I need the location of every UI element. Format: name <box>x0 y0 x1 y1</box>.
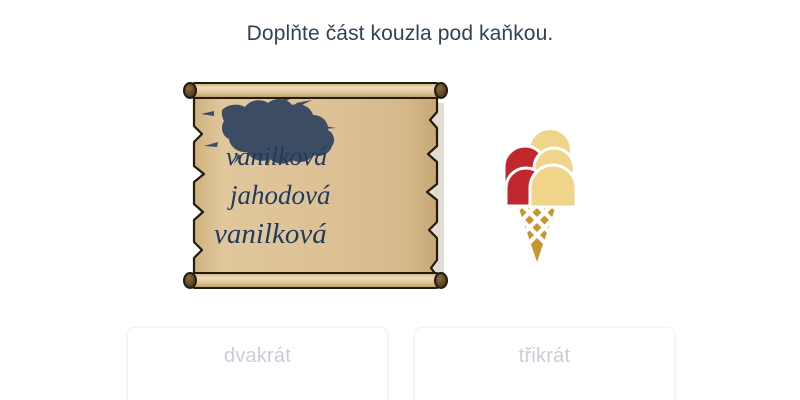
scroll-bottom-roll <box>184 273 447 288</box>
answer-option-trikrat[interactable]: třikrát <box>414 327 675 400</box>
scroll-illustration <box>178 80 453 295</box>
ice-cream-cone <box>492 110 582 270</box>
scoop-vanilla-bottom-right <box>530 165 576 207</box>
page-title: Doplňte část kouzla pod kaňkou. <box>0 22 800 46</box>
exercise-stage: vanilková jahodová vanilková <box>0 72 800 297</box>
parchment-scroll: vanilková jahodová vanilková <box>178 80 453 295</box>
ice-cream-illustration <box>492 110 582 270</box>
answer-option-label: třikrát <box>519 345 570 368</box>
answer-options: dvakrát třikrát <box>127 327 675 400</box>
scroll-top-roll <box>184 83 447 98</box>
answer-option-dvakrat[interactable]: dvakrát <box>127 327 388 400</box>
answer-option-label: dvakrát <box>224 345 291 368</box>
